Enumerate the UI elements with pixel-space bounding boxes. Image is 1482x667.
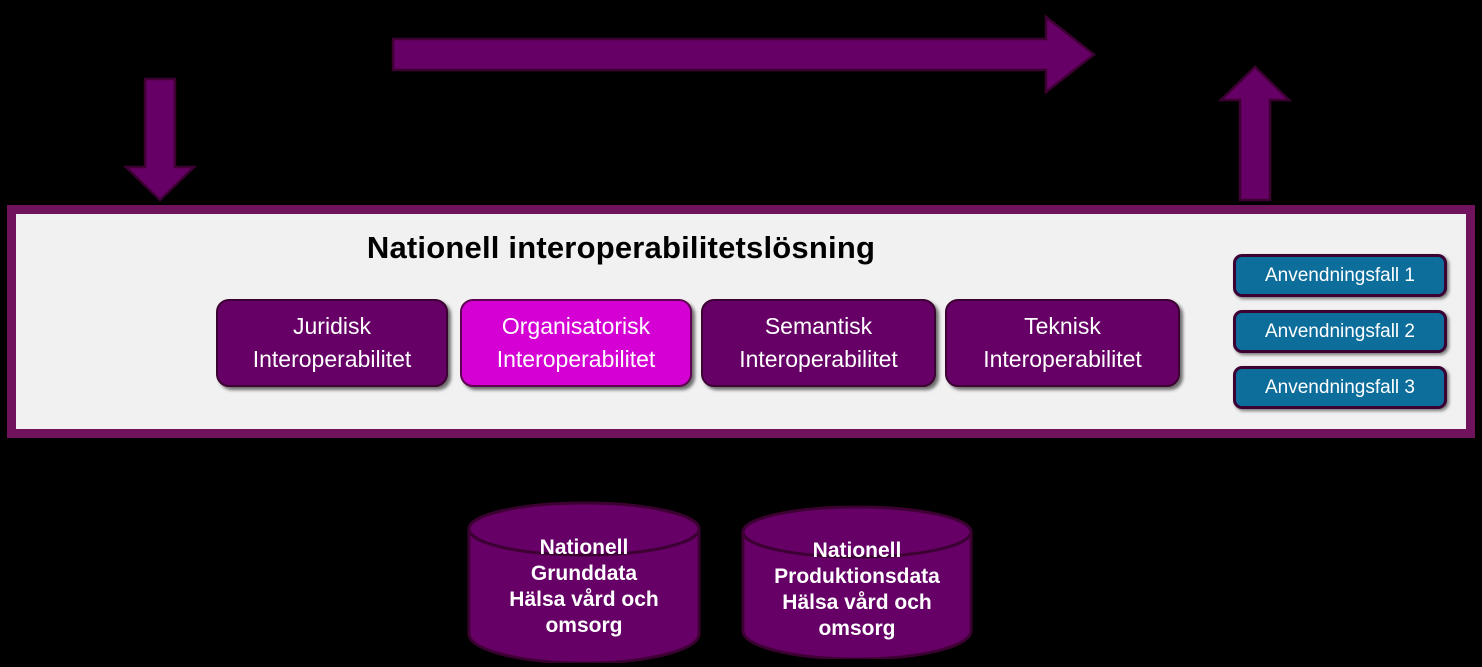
usecase-3-label: Anvendningsfall 3	[1265, 377, 1415, 399]
cylinder-shape-produktionsdata	[740, 504, 974, 659]
database-nationell-produktionsdata[interactable]: Nationell Produktionsdata Hälsa vård och…	[740, 504, 974, 659]
usecase-list: Anvendningsfall 1 Anvendningsfall 2 Anve…	[1224, 245, 1454, 413]
pillar-organisatorisk-line1: Organisatorisk	[502, 310, 650, 343]
top-right-flow-arrow	[393, 17, 1094, 92]
inbound-down-arrow	[126, 79, 194, 200]
interoperability-pillars: Juridisk Interoperabilitet Organisatoris…	[209, 299, 1189, 387]
pillar-semantisk[interactable]: Semantisk Interoperabilitet	[701, 299, 936, 387]
pillar-teknisk-line2: Interoperabilitet	[983, 343, 1142, 376]
pillar-organisatorisk-line2: Interoperabilitet	[497, 343, 656, 376]
cylinder-shape-grunddata	[466, 500, 702, 663]
pillar-juridisk[interactable]: Juridisk Interoperabilitet	[216, 299, 448, 387]
page-title: Nationell interoperabilitetslösning	[16, 230, 1226, 266]
outbound-up-arrow	[1221, 67, 1289, 200]
pillar-juridisk-line2: Interoperabilitet	[253, 343, 412, 376]
usecase-2-label: Anvendningsfall 2	[1265, 321, 1415, 343]
national-interoperability-panel: Nationell interoperabilitetslösning Juri…	[7, 205, 1475, 438]
usecase-2[interactable]: Anvendningsfall 2	[1233, 310, 1447, 353]
pillar-teknisk-line1: Teknisk	[1024, 310, 1101, 343]
usecase-1-label: Anvendningsfall 1	[1265, 265, 1415, 287]
diagram-canvas: Nationell interoperabilitetslösning Juri…	[0, 0, 1482, 667]
pillar-organisatorisk[interactable]: Organisatorisk Interoperabilitet	[460, 299, 692, 387]
database-nationell-grunddata[interactable]: Nationell Grunddata Hälsa vård och omsor…	[466, 500, 702, 663]
pillar-semantisk-line1: Semantisk	[765, 310, 872, 343]
usecase-3[interactable]: Anvendningsfall 3	[1233, 366, 1447, 409]
pillar-semantisk-line2: Interoperabilitet	[739, 343, 898, 376]
usecase-1[interactable]: Anvendningsfall 1	[1233, 254, 1447, 297]
pillar-teknisk[interactable]: Teknisk Interoperabilitet	[945, 299, 1180, 387]
pillar-juridisk-line1: Juridisk	[293, 310, 371, 343]
